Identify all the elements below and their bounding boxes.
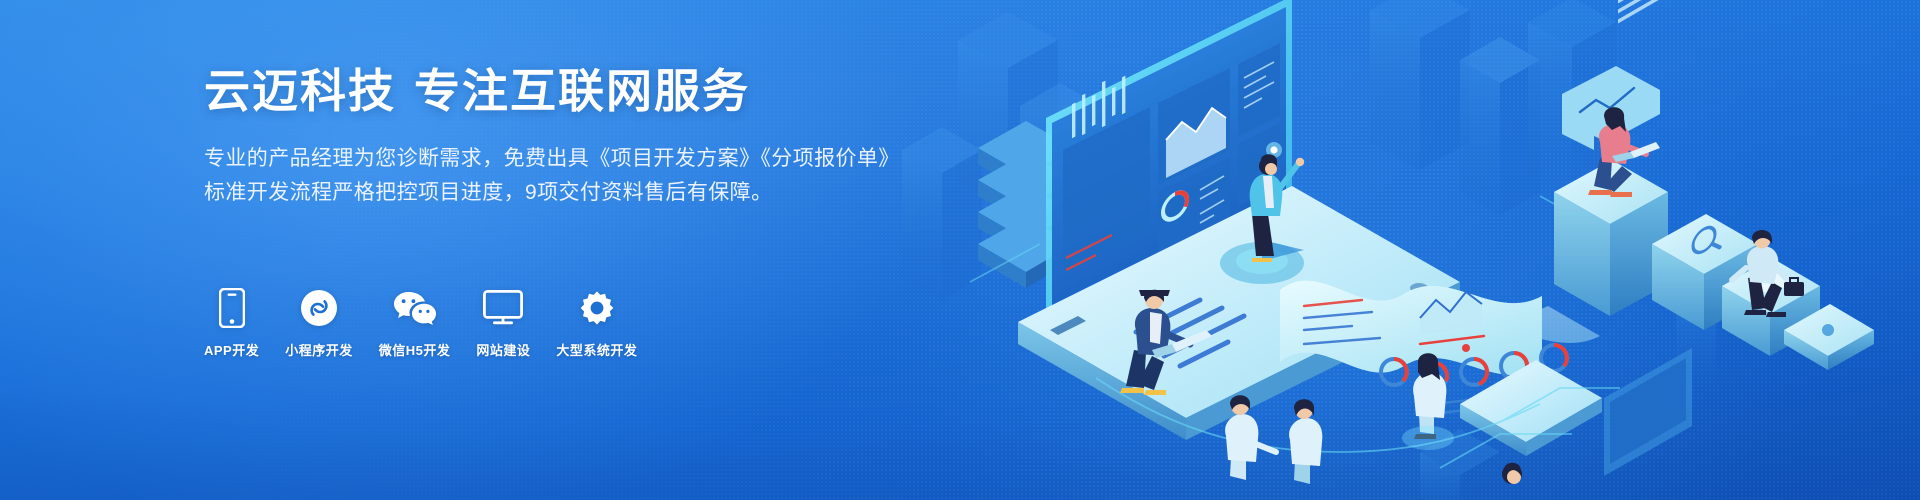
service-item-website[interactable]: 网站建设 — [476, 288, 530, 359]
background-glow-right — [900, 40, 1800, 500]
headline-tagline: 专注互联网服务 — [414, 65, 750, 117]
person-talking-b — [1289, 399, 1322, 484]
isometric-data-dashboard-illustration — [900, 0, 1920, 500]
hero-copy-block: 云迈科技专注互联网服务 专业的产品经理为您诊断需求，免费出具《项目开发方案》《分… — [204, 66, 904, 210]
small-phone-platform — [1460, 360, 1602, 456]
headline-brand: 云迈科技 — [204, 65, 396, 117]
report-sheet — [1280, 281, 1600, 414]
service-list: APP开发 小程序开发 — [204, 288, 637, 359]
background-buildings — [902, 0, 1756, 500]
service-label: 小程序开发 — [285, 340, 353, 359]
service-item-enterprise[interactable]: 大型系统开发 — [556, 288, 637, 359]
hero-banner: 云迈科技专注互联网服务 专业的产品经理为您诊断需求，免费出具《项目开发方案》《分… — [0, 0, 1920, 500]
monitor-icon — [483, 288, 523, 328]
service-label: 微信H5开发 — [379, 340, 451, 359]
dashboard-screen — [1046, 0, 1292, 318]
person-laptop-left — [1120, 290, 1212, 395]
circuit-loop — [1096, 378, 1620, 468]
phone-platform — [1018, 186, 1460, 440]
mobile-phone-icon — [219, 288, 245, 328]
service-label: 大型系统开发 — [556, 340, 637, 359]
person-talking-a — [1225, 395, 1276, 480]
mini-program-icon — [300, 288, 338, 328]
person-head-small — [1502, 463, 1522, 484]
person-presenter — [1250, 154, 1305, 262]
service-item-wechat[interactable]: 微信H5开发 — [379, 288, 451, 359]
person-laptop-woman — [1588, 107, 1660, 197]
person-standing-woman — [1413, 353, 1446, 439]
step-blocks — [1554, 160, 1874, 370]
mini-dashboard-screen — [1604, 0, 1692, 476]
service-item-miniprogram[interactable]: 小程序开发 — [285, 288, 353, 359]
gear-icon — [578, 288, 616, 328]
page-title: 云迈科技专注互联网服务 — [204, 66, 904, 118]
service-item-app[interactable]: APP开发 — [204, 288, 259, 359]
person-briefcase — [1732, 230, 1804, 317]
subtitle-line-1: 专业的产品经理为您诊断需求，免费出具《项目开发方案》《分项报价单》 — [204, 142, 904, 176]
service-label: APP开发 — [204, 340, 259, 359]
server-stack — [978, 121, 1074, 288]
service-label: 网站建设 — [476, 340, 530, 359]
wechat-icon — [392, 288, 438, 328]
floating-chart-bubble — [1562, 66, 1660, 150]
hero-subtitle-block: 专业的产品经理为您诊断需求，免费出具《项目开发方案》《分项报价单》 标准开发流程… — [204, 142, 904, 210]
subtitle-line-2: 标准开发流程严格把控项目进度，9项交付资料售后有保障。 — [204, 176, 904, 210]
circuit-lines — [970, 196, 1590, 386]
